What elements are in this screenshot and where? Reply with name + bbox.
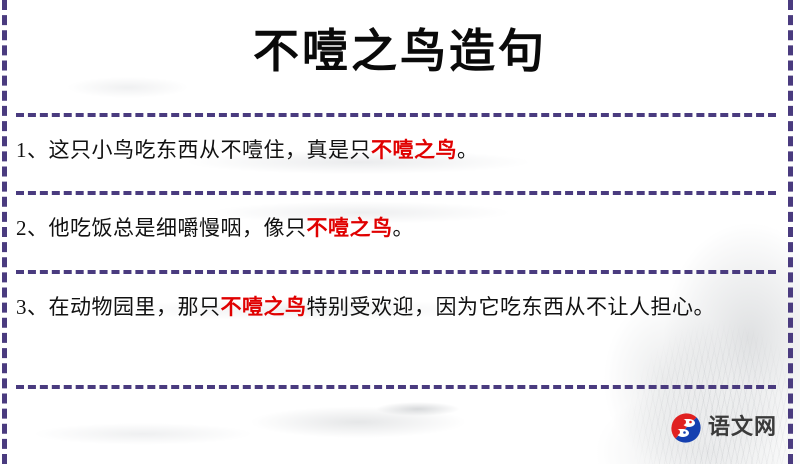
- sentence-number-2: 2、: [16, 216, 49, 240]
- page-title: 不噎之鸟造句: [0, 22, 800, 80]
- divider-2: [16, 191, 776, 195]
- slide-page: 不噎之鸟造句 1、这只小鸟吃东西从不噎住，真是只不噎之鸟。 2、他吃饭总是细嚼慢…: [0, 0, 800, 464]
- sentence-keyword-1: 不噎之鸟: [371, 137, 457, 162]
- wash-mist-4: [0, 418, 260, 458]
- sentence-item-1: 1、这只小鸟吃东西从不噎住，真是只不噎之鸟。: [16, 131, 770, 169]
- divider-4: [16, 385, 776, 389]
- yuwen-circle-logo-icon: [670, 412, 702, 444]
- sentence-text-before-3: 在动物园里，那只: [49, 295, 221, 319]
- sentence-number-3: 3、: [16, 295, 49, 319]
- sentence-text-after-3: 特别受欢迎，因为它吃东西从不让人担心。: [307, 295, 716, 319]
- sentence-text-before-2: 他吃饭总是细嚼慢咽，像只: [49, 216, 307, 240]
- sentence-number-1: 1、: [16, 138, 49, 162]
- wash-boat-silhouette: [200, 385, 530, 445]
- sentence-text-after-1: 。: [457, 138, 479, 162]
- sentence-text-after-2: 。: [393, 216, 415, 240]
- sentence-keyword-2: 不噎之鸟: [307, 215, 393, 240]
- divider-1: [16, 113, 776, 117]
- watermark-label: 语文网: [708, 417, 777, 439]
- frame-border-left: [2, 0, 7, 464]
- sentence-text-before-1: 这只小鸟吃东西从不噎住，真是只: [49, 138, 372, 162]
- frame-border-right: [788, 0, 793, 464]
- sentence-keyword-3: 不噎之鸟: [221, 294, 307, 319]
- site-watermark: 语文网: [670, 412, 777, 444]
- divider-3: [16, 270, 776, 274]
- sentence-item-3: 3、在动物园里，那只不噎之鸟特别受欢迎，因为它吃东西从不让人担心。: [16, 288, 770, 326]
- sentence-item-2: 2、他吃饭总是细嚼慢咽，像只不噎之鸟。: [16, 209, 770, 247]
